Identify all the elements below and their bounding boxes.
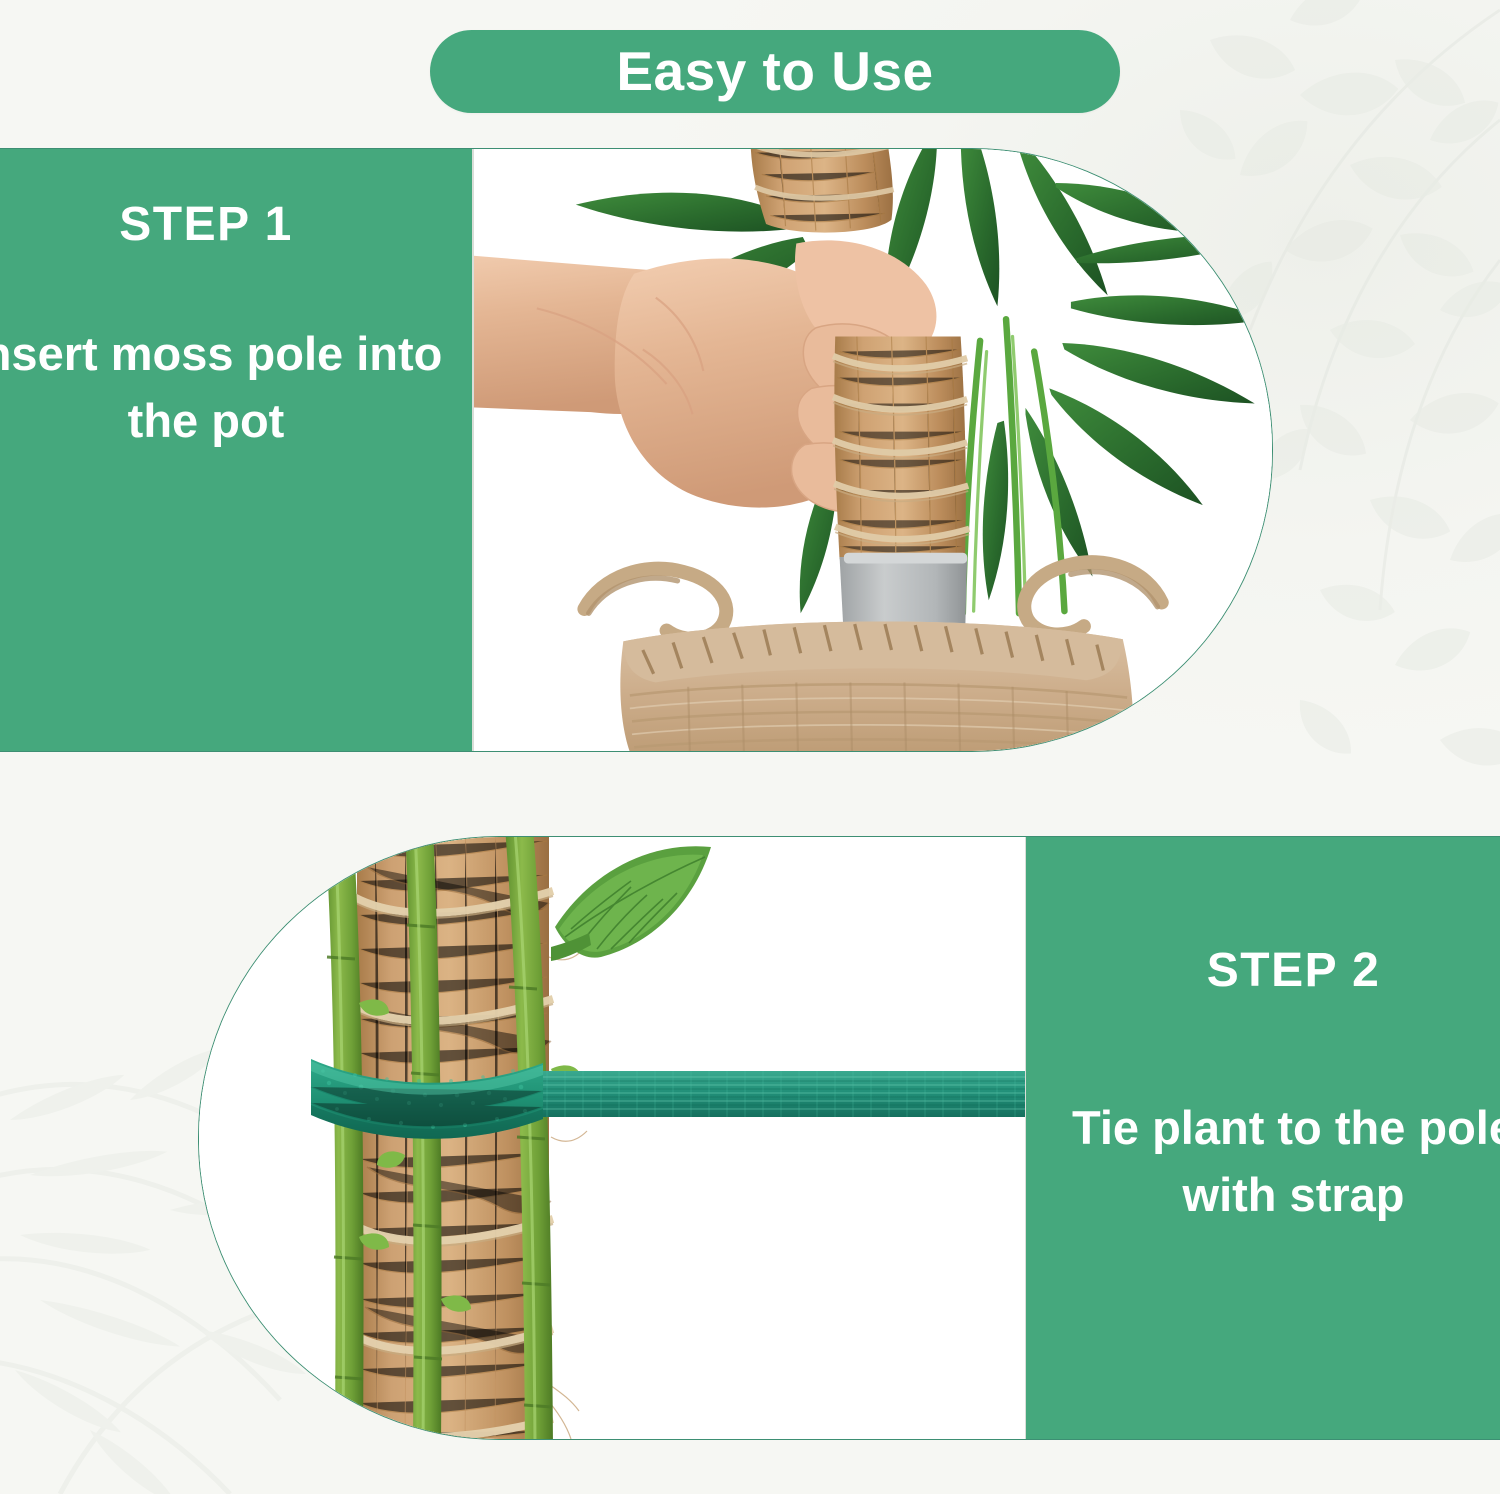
- step-1-photo: [472, 149, 1272, 751]
- step-2-description: Tie plant to the pole with strap: [1026, 1095, 1500, 1228]
- headline-banner: Easy to Use: [430, 30, 1120, 113]
- infographic-canvas: Easy to Use STEP 1 Insert moss pole into…: [0, 0, 1500, 1494]
- step-2-text-block: STEP 2 Tie plant to the pole with strap: [1026, 837, 1500, 1439]
- step-1-label: STEP 1: [119, 201, 293, 249]
- step-2-divider: [1025, 837, 1027, 1439]
- step-2-card: STEP 2 Tie plant to the pole with strap: [198, 836, 1500, 1440]
- step-2-label: STEP 2: [1207, 947, 1381, 995]
- step-1-description: Insert moss pole into the pot: [0, 321, 472, 454]
- step-1-text-block: STEP 1 Insert moss pole into the pot: [0, 149, 472, 751]
- step-1-card: STEP 1 Insert moss pole into the pot: [0, 148, 1273, 752]
- step-2-photo: [199, 837, 1026, 1439]
- page-title: Easy to Use: [616, 44, 933, 99]
- step-1-divider: [472, 149, 474, 751]
